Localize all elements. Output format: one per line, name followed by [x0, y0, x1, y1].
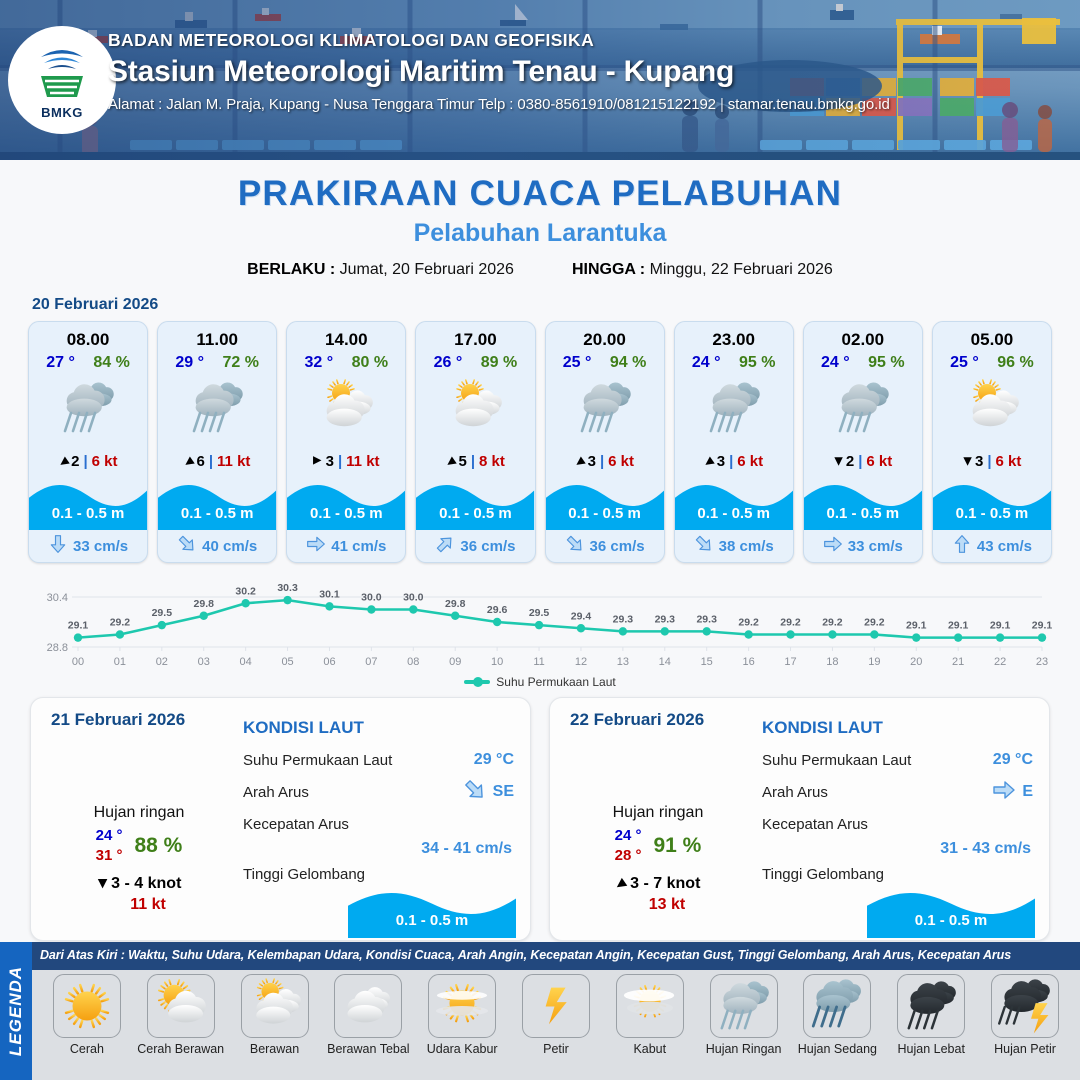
weather-hujan-ringan-icon [45, 728, 233, 802]
berlaku-label: BERLAKU : [247, 261, 335, 278]
sea-row-key: Arah Arus [243, 784, 309, 801]
sea-row-key: Arah Arus [762, 784, 828, 801]
current-speed-value: 41 cm/s [331, 538, 386, 555]
svg-text:10: 10 [491, 656, 503, 668]
wind-separator: | [83, 453, 87, 470]
hourly-card[interactable]: 14.00 32 ° 80 % ◂ 3 | 11 kt 0.1 - [286, 321, 406, 563]
gust-value: 6 kt [92, 453, 118, 470]
card-temperature: 25 ° [563, 354, 592, 372]
card-time: 20.00 [546, 322, 664, 350]
panel-wind-range: 3 - 4 knot [111, 875, 181, 893]
weather-cerah-berawan-icon [147, 974, 215, 1038]
card-wave: 0.1 - 0.5 m [675, 478, 793, 530]
legend-item: Kabut [603, 974, 697, 1056]
sea-row: Arah Arus E [758, 776, 1035, 808]
wind-direction-arrow-icon: ◂ [180, 452, 197, 471]
sea-row-value: 31 - 43 cm/s [758, 840, 1035, 858]
legend-note: Dari Atas Kiri : Waktu, Suhu Udara, Kele… [40, 948, 1011, 962]
sst-chart-svg: 28.830.429.10029.20129.50229.80330.20430… [26, 571, 1054, 671]
panel-temp-max: 31 ° [96, 846, 123, 866]
hourly-card[interactable]: 08.00 27 ° 84 % ◂ 2 | 6 kt 0.1 - [28, 321, 148, 563]
svg-text:29.1: 29.1 [68, 620, 89, 632]
weather-hujan-lebat-icon [897, 974, 965, 1038]
wind-separator: | [209, 453, 213, 470]
weather-hujan-ringan-icon [804, 372, 922, 444]
wave-height-label: 0.1 - 0.5 m [867, 912, 1035, 929]
header-text-block: BADAN METEOROLOGI KLIMATOLOGI DAN GEOFIS… [108, 30, 890, 113]
card-temp-hum: 24 ° 95 % [675, 350, 793, 372]
sea-row-key: Kecepatan Arus [243, 816, 349, 833]
wave-height-label: 0.1 - 0.5 m [416, 505, 534, 522]
panel-date: 22 Februari 2026 [570, 710, 752, 730]
wind-separator: | [471, 453, 475, 470]
day-label: 20 Februari 2026 [32, 296, 1080, 314]
card-temp-hum: 32 ° 80 % [287, 350, 405, 372]
card-current: 33 cm/s [29, 530, 147, 562]
svg-text:15: 15 [701, 656, 713, 668]
card-wind: ◂ 6 | 11 kt [158, 444, 276, 478]
svg-text:29.8: 29.8 [445, 598, 466, 610]
current-direction-arrow-icon [565, 534, 585, 559]
bmkg-logo-text: BMKG [41, 105, 83, 120]
card-current: 36 cm/s [546, 530, 664, 562]
card-current: 40 cm/s [158, 530, 276, 562]
card-time: 17.00 [416, 322, 534, 350]
panel-right: KONDISI LAUT Suhu Permukaan Laut 29 °C A… [233, 710, 516, 930]
berlaku-group: BERLAKU : Jumat, 20 Februari 2026 [247, 261, 514, 279]
legend-item: Berawan Tebal [321, 974, 415, 1056]
panel-temp-min: 24 ° [615, 826, 642, 846]
gust-value: 6 kt [996, 453, 1022, 470]
svg-text:29.3: 29.3 [613, 613, 634, 625]
weather-cerah-icon [53, 974, 121, 1038]
svg-text:29.2: 29.2 [822, 617, 843, 629]
title-block: PRAKIRAAN CUACA PELABUHAN Pelabuhan Lara… [0, 174, 1080, 279]
panel-wind: ◂ 3 - 4 knot [45, 875, 233, 893]
card-time: 23.00 [675, 322, 793, 350]
card-humidity: 84 % [93, 354, 129, 372]
wind-separator: | [987, 453, 991, 470]
svg-text:02: 02 [156, 656, 168, 668]
current-direction-arrow-icon [992, 778, 1016, 807]
svg-text:04: 04 [240, 656, 252, 668]
legend-item: Hujan Sedang [791, 974, 885, 1056]
wind-speed-value: 2 [846, 453, 854, 470]
legend-item: Udara Kabur [415, 974, 509, 1056]
bmkg-emblem-icon [31, 41, 93, 103]
chart-legend: Suhu Permukaan Laut [26, 675, 1054, 689]
panel-temps: 24 ° 28 ° 91 % [564, 826, 752, 867]
panel-left: 21 Februari 2026 Hujan ringan 24 ° 31 ° … [45, 710, 233, 930]
berlaku-value: Jumat, 20 Februari 2026 [340, 261, 514, 278]
svg-text:18: 18 [826, 656, 838, 668]
sea-row-key: Suhu Permukaan Laut [762, 752, 911, 769]
svg-text:30.4: 30.4 [47, 592, 68, 604]
sea-row-key: Kecepatan Arus [762, 816, 868, 833]
weather-berawan-tebal-icon [334, 974, 402, 1038]
sea-row-key: Tinggi Gelombang [243, 866, 365, 883]
current-speed-value: 38 cm/s [719, 538, 774, 555]
wave-height-label: 0.1 - 0.5 m [158, 505, 276, 522]
panel-right: KONDISI LAUT Suhu Permukaan Laut 29 °C A… [752, 710, 1035, 930]
gust-value: 8 kt [479, 453, 505, 470]
hourly-card[interactable]: 23.00 24 ° 95 % ◂ 3 | 6 kt 0.1 - [674, 321, 794, 563]
legend-item-label: Cerah Berawan [137, 1042, 224, 1056]
panel-wind: ◂ 3 - 7 knot [564, 875, 752, 893]
weather-berawan-icon [287, 372, 405, 444]
hingga-label: HINGGA : [572, 261, 645, 278]
port-name: Pelabuhan Larantuka [0, 219, 1080, 248]
legend-item: Cerah [40, 974, 134, 1056]
weather-hujan-ringan-icon [546, 372, 664, 444]
sea-row-value: 29 °C [993, 751, 1033, 769]
weather-udara-kabur-icon [428, 974, 496, 1038]
current-direction-arrow-icon [306, 534, 326, 559]
card-temp-hum: 25 ° 94 % [546, 350, 664, 372]
panel-wave: 0.1 - 0.5 m [867, 884, 1035, 938]
card-humidity: 80 % [352, 354, 388, 372]
current-direction-arrow-icon [463, 778, 487, 807]
wave-height-label: 0.1 - 0.5 m [675, 505, 793, 522]
wind-speed-value: 3 [717, 453, 725, 470]
panel-gust: 13 kt [582, 896, 752, 914]
svg-text:29.2: 29.2 [780, 617, 801, 629]
svg-text:16: 16 [742, 656, 754, 668]
card-current: 38 cm/s [675, 530, 793, 562]
gust-value: 6 kt [608, 453, 634, 470]
wave-height-label: 0.1 - 0.5 m [933, 505, 1051, 522]
weather-berawan-icon [241, 974, 309, 1038]
current-direction-group: SE [463, 778, 514, 807]
sea-row: Suhu Permukaan Laut 29 °C [758, 744, 1035, 776]
current-direction-arrow-icon [435, 534, 455, 559]
panel-date: 21 Februari 2026 [51, 710, 233, 730]
wind-direction-arrow-icon: ◂ [313, 453, 322, 470]
card-wave: 0.1 - 0.5 m [933, 478, 1051, 530]
card-temperature: 32 ° [305, 354, 334, 372]
wave-height-label: 0.1 - 0.5 m [348, 912, 516, 929]
svg-text:14: 14 [659, 656, 671, 668]
weather-kabut-icon [616, 974, 684, 1038]
hingga-group: HINGGA : Minggu, 22 Februari 2026 [572, 261, 833, 279]
wind-separator: | [858, 453, 862, 470]
card-wind: ◂ 3 | 6 kt [546, 444, 664, 478]
card-temperature: 25 ° [950, 354, 979, 372]
svg-text:29.6: 29.6 [487, 604, 508, 616]
card-current: 36 cm/s [416, 530, 534, 562]
card-temp-hum: 27 ° 84 % [29, 350, 147, 372]
weather-hujan-ringan-icon [158, 372, 276, 444]
card-time: 08.00 [29, 322, 147, 350]
current-speed-value: 33 cm/s [848, 538, 903, 555]
svg-text:29.5: 29.5 [152, 607, 173, 619]
wind-speed-value: 6 [197, 453, 205, 470]
svg-text:29.3: 29.3 [655, 613, 676, 625]
wind-separator: | [338, 453, 342, 470]
current-direction-arrow-icon [177, 534, 197, 559]
svg-text:03: 03 [198, 656, 210, 668]
svg-text:07: 07 [365, 656, 377, 668]
card-wind: ◂ 5 | 8 kt [416, 444, 534, 478]
wind-separator: | [600, 453, 604, 470]
current-speed-value: 40 cm/s [202, 538, 257, 555]
legend-item-label: Berawan Tebal [327, 1042, 409, 1056]
hourly-card[interactable]: 02.00 24 ° 95 % ◂ 2 | 6 kt 0.1 - [803, 321, 923, 563]
svg-text:29.1: 29.1 [948, 620, 969, 632]
weather-berawan-icon [933, 372, 1051, 444]
station-name: Stasiun Meteorologi Maritim Tenau - Kupa… [108, 55, 890, 89]
card-wind: ◂ 2 | 6 kt [29, 444, 147, 478]
panel-temp-min: 24 ° [96, 826, 123, 846]
sea-condition-heading: KONDISI LAUT [243, 718, 516, 738]
card-temp-hum: 25 ° 96 % [933, 350, 1051, 372]
daily-forecast-panels: 21 Februari 2026 Hujan ringan 24 ° 31 ° … [0, 689, 1080, 941]
panel-humidity: 91 % [653, 834, 701, 858]
wind-speed-value: 3 [588, 453, 596, 470]
card-humidity: 95 % [739, 354, 775, 372]
svg-text:30.0: 30.0 [403, 592, 424, 604]
agency-name: BADAN METEOROLOGI KLIMATOLOGI DAN GEOFIS… [108, 30, 890, 51]
svg-text:30.0: 30.0 [361, 592, 382, 604]
card-temperature: 24 ° [692, 354, 721, 372]
wind-direction-arrow-icon: ◂ [958, 457, 975, 466]
weather-hujan-ringan-icon [29, 372, 147, 444]
legend-item-label: Kabut [633, 1042, 666, 1056]
wind-direction-arrow-icon: ◂ [92, 879, 109, 888]
legend-line-marker-icon [464, 680, 490, 684]
card-wave: 0.1 - 0.5 m [158, 478, 276, 530]
panel-gust: 11 kt [63, 896, 233, 914]
card-wave: 0.1 - 0.5 m [416, 478, 534, 530]
sea-row: Suhu Permukaan Laut 29 °C [239, 744, 516, 776]
panel-wind-range: 3 - 7 knot [630, 875, 700, 893]
svg-text:29.2: 29.2 [738, 617, 759, 629]
card-temp-hum: 24 ° 95 % [804, 350, 922, 372]
gust-value: 6 kt [737, 453, 763, 470]
svg-text:30.3: 30.3 [277, 582, 298, 594]
weather-hujan-sedang-icon [803, 974, 871, 1038]
card-time: 11.00 [158, 322, 276, 350]
panel-condition: Hujan ringan [564, 804, 752, 822]
svg-text:22: 22 [994, 656, 1006, 668]
svg-text:29.1: 29.1 [990, 620, 1011, 632]
legend-icon-list: Cerah Cerah Berawan [32, 970, 1080, 1080]
wind-speed-value: 5 [459, 453, 467, 470]
hourly-forecast-cards: 08.00 27 ° 84 % ◂ 2 | 6 kt 0.1 - [0, 321, 1080, 563]
card-wave: 0.1 - 0.5 m [546, 478, 664, 530]
card-wind: ◂ 3 | 6 kt [933, 444, 1051, 478]
card-wave: 0.1 - 0.5 m [804, 478, 922, 530]
wave-height-label: 0.1 - 0.5 m [287, 505, 405, 522]
sea-row-value: 29 °C [474, 751, 514, 769]
weather-hujan-petir-icon [991, 974, 1059, 1038]
svg-text:20: 20 [910, 656, 922, 668]
current-speed-value: 36 cm/s [590, 538, 645, 555]
bmkg-logo: BMKG [8, 26, 116, 134]
legend-item: Hujan Petir [978, 974, 1072, 1056]
panel-left: 22 Februari 2026 Hujan ringan 24 ° 28 ° … [564, 710, 752, 930]
card-temp-hum: 29 ° 72 % [158, 350, 276, 372]
gust-value: 11 kt [346, 453, 379, 470]
legend-item: Hujan Ringan [697, 974, 791, 1056]
card-current: 41 cm/s [287, 530, 405, 562]
card-temperature: 26 ° [434, 354, 463, 372]
svg-text:29.5: 29.5 [529, 607, 550, 619]
legend-item-label: Udara Kabur [427, 1042, 498, 1056]
address-text: Alamat : Jalan M. Praja, Kupang - Nusa T… [108, 96, 716, 113]
panel-wave: 0.1 - 0.5 m [348, 884, 516, 938]
hourly-card[interactable]: 11.00 29 ° 72 % ◂ 6 | 11 kt 0.1 - [157, 321, 277, 563]
hourly-card[interactable]: 05.00 25 ° 96 % ◂ 3 | 6 kt 0.1 - [932, 321, 1052, 563]
svg-text:05: 05 [281, 656, 293, 668]
wind-speed-value: 3 [326, 453, 334, 470]
svg-text:29.1: 29.1 [1032, 620, 1053, 632]
weather-hujan-ringan-icon [564, 728, 752, 802]
gust-value: 11 kt [217, 453, 250, 470]
legend-item-label: Hujan Petir [994, 1042, 1056, 1056]
legend-side-text: LEGENDA [6, 966, 26, 1056]
chart-legend-label: Suhu Permukaan Laut [496, 675, 615, 689]
svg-text:13: 13 [617, 656, 629, 668]
legend-bar: LEGENDA Dari Atas Kiri : Waktu, Suhu Uda… [0, 942, 1080, 1080]
svg-text:28.8: 28.8 [47, 642, 68, 654]
station-address: Alamat : Jalan M. Praja, Kupang - Nusa T… [108, 96, 890, 113]
svg-text:12: 12 [575, 656, 587, 668]
sea-row: Kecepatan Arus 31 - 43 cm/s [758, 808, 1035, 858]
card-time: 14.00 [287, 322, 405, 350]
svg-text:29.1: 29.1 [906, 620, 927, 632]
website-text: stamar.tenau.bmkg.go.id [728, 96, 890, 113]
address-separator: | [716, 96, 728, 113]
wind-direction-arrow-icon: ◂ [829, 457, 846, 466]
page-title: PRAKIRAAN CUACA PELABUHAN [0, 174, 1080, 214]
sea-condition-heading: KONDISI LAUT [762, 718, 1035, 738]
legend-item-label: Petir [543, 1042, 569, 1056]
wind-direction-arrow-icon: ◂ [571, 452, 588, 471]
card-wave: 0.1 - 0.5 m [287, 478, 405, 530]
wave-height-label: 0.1 - 0.5 m [29, 505, 147, 522]
legend-item-label: Berawan [250, 1042, 299, 1056]
wind-direction-arrow-icon: ◂ [700, 452, 717, 471]
card-wind: ◂ 3 | 6 kt [675, 444, 793, 478]
wind-direction-arrow-icon: ◂ [54, 452, 71, 471]
gust-value: 6 kt [866, 453, 892, 470]
sea-row: Kecepatan Arus 34 - 41 cm/s [239, 808, 516, 858]
svg-text:17: 17 [784, 656, 796, 668]
sea-row-value: 34 - 41 cm/s [239, 840, 516, 858]
wind-speed-value: 3 [975, 453, 983, 470]
card-wind: ◂ 3 | 11 kt [287, 444, 405, 478]
card-wind: ◂ 2 | 6 kt [804, 444, 922, 478]
card-temperature: 29 ° [175, 354, 204, 372]
weather-berawan-icon [416, 372, 534, 444]
sea-row: Arah Arus SE [239, 776, 516, 808]
card-temperature: 24 ° [821, 354, 850, 372]
card-humidity: 89 % [481, 354, 517, 372]
weather-hujan-ringan-icon [710, 974, 778, 1038]
legend-item-label: Cerah [70, 1042, 104, 1056]
panel-temps: 24 ° 31 ° 88 % [45, 826, 233, 867]
card-humidity: 95 % [868, 354, 904, 372]
sea-row-key: Tinggi Gelombang [762, 866, 884, 883]
svg-text:00: 00 [72, 656, 84, 668]
card-current: 33 cm/s [804, 530, 922, 562]
svg-text:29.2: 29.2 [110, 617, 131, 629]
card-current: 43 cm/s [933, 530, 1051, 562]
card-time: 02.00 [804, 322, 922, 350]
daily-panel[interactable]: 21 Februari 2026 Hujan ringan 24 ° 31 ° … [30, 697, 531, 941]
wind-speed-value: 2 [71, 453, 79, 470]
wind-direction-arrow-icon: ◂ [442, 452, 459, 471]
svg-text:11: 11 [533, 656, 544, 668]
svg-text:29.4: 29.4 [571, 610, 592, 622]
card-humidity: 96 % [997, 354, 1033, 372]
sea-row: Tinggi Gelombang 0.1 - 0.5 m [758, 858, 1035, 938]
svg-text:09: 09 [449, 656, 461, 668]
card-temp-hum: 26 ° 89 % [416, 350, 534, 372]
svg-text:08: 08 [407, 656, 419, 668]
svg-text:30.1: 30.1 [319, 588, 340, 600]
svg-text:21: 21 [952, 656, 964, 668]
current-direction-arrow-icon [823, 534, 843, 559]
card-temperature: 27 ° [46, 354, 75, 372]
panel-condition: Hujan ringan [45, 804, 233, 822]
sea-row-value: E [1022, 783, 1033, 801]
weather-petir-icon [522, 974, 590, 1038]
svg-text:19: 19 [868, 656, 880, 668]
sst-chart: 28.830.429.10029.20129.50229.80330.20430… [26, 571, 1054, 671]
svg-text:06: 06 [323, 656, 335, 668]
legend-item-label: Hujan Lebat [898, 1042, 965, 1056]
svg-text:01: 01 [114, 656, 126, 668]
sea-row-value: SE [493, 783, 514, 801]
current-speed-value: 43 cm/s [977, 538, 1032, 555]
legend-item: Berawan [228, 974, 322, 1056]
hourly-card[interactable]: 20.00 25 ° 94 % ◂ 3 | 6 kt 0.1 - [545, 321, 665, 563]
current-direction-arrow-icon [694, 534, 714, 559]
legend-item: Petir [509, 974, 603, 1056]
card-wave: 0.1 - 0.5 m [29, 478, 147, 530]
wave-height-label: 0.1 - 0.5 m [546, 505, 664, 522]
validity-block: BERLAKU : Jumat, 20 Februari 2026 HINGGA… [0, 261, 1080, 279]
current-direction-arrow-icon [952, 534, 972, 559]
svg-text:23: 23 [1036, 656, 1048, 668]
sea-row-key: Suhu Permukaan Laut [243, 752, 392, 769]
card-humidity: 72 % [223, 354, 259, 372]
current-direction-group: E [992, 778, 1033, 807]
legend-item: Hujan Lebat [884, 974, 978, 1056]
panel-humidity: 88 % [134, 834, 182, 858]
card-time: 05.00 [933, 322, 1051, 350]
daily-panel[interactable]: 22 Februari 2026 Hujan ringan 24 ° 28 ° … [549, 697, 1050, 941]
sst-chart-block: 28.830.429.10029.20129.50229.80330.20430… [0, 571, 1080, 689]
legend-side-label: LEGENDA [0, 942, 32, 1080]
panel-temp-max: 28 ° [615, 846, 642, 866]
hourly-card[interactable]: 17.00 26 ° 89 % ◂ 5 | 8 kt 0.1 - [415, 321, 535, 563]
current-direction-arrow-icon [48, 534, 68, 559]
current-speed-value: 33 cm/s [73, 538, 128, 555]
svg-text:29.2: 29.2 [864, 617, 885, 629]
svg-text:29.8: 29.8 [194, 598, 215, 610]
card-humidity: 94 % [610, 354, 646, 372]
svg-text:30.2: 30.2 [235, 585, 256, 597]
wind-direction-arrow-icon: ◂ [612, 874, 629, 893]
hingga-value: Minggu, 22 Februari 2026 [650, 261, 833, 278]
legend-item-label: Hujan Sedang [798, 1042, 877, 1056]
legend-item: Cerah Berawan [134, 974, 228, 1056]
wind-separator: | [729, 453, 733, 470]
wave-height-label: 0.1 - 0.5 m [804, 505, 922, 522]
